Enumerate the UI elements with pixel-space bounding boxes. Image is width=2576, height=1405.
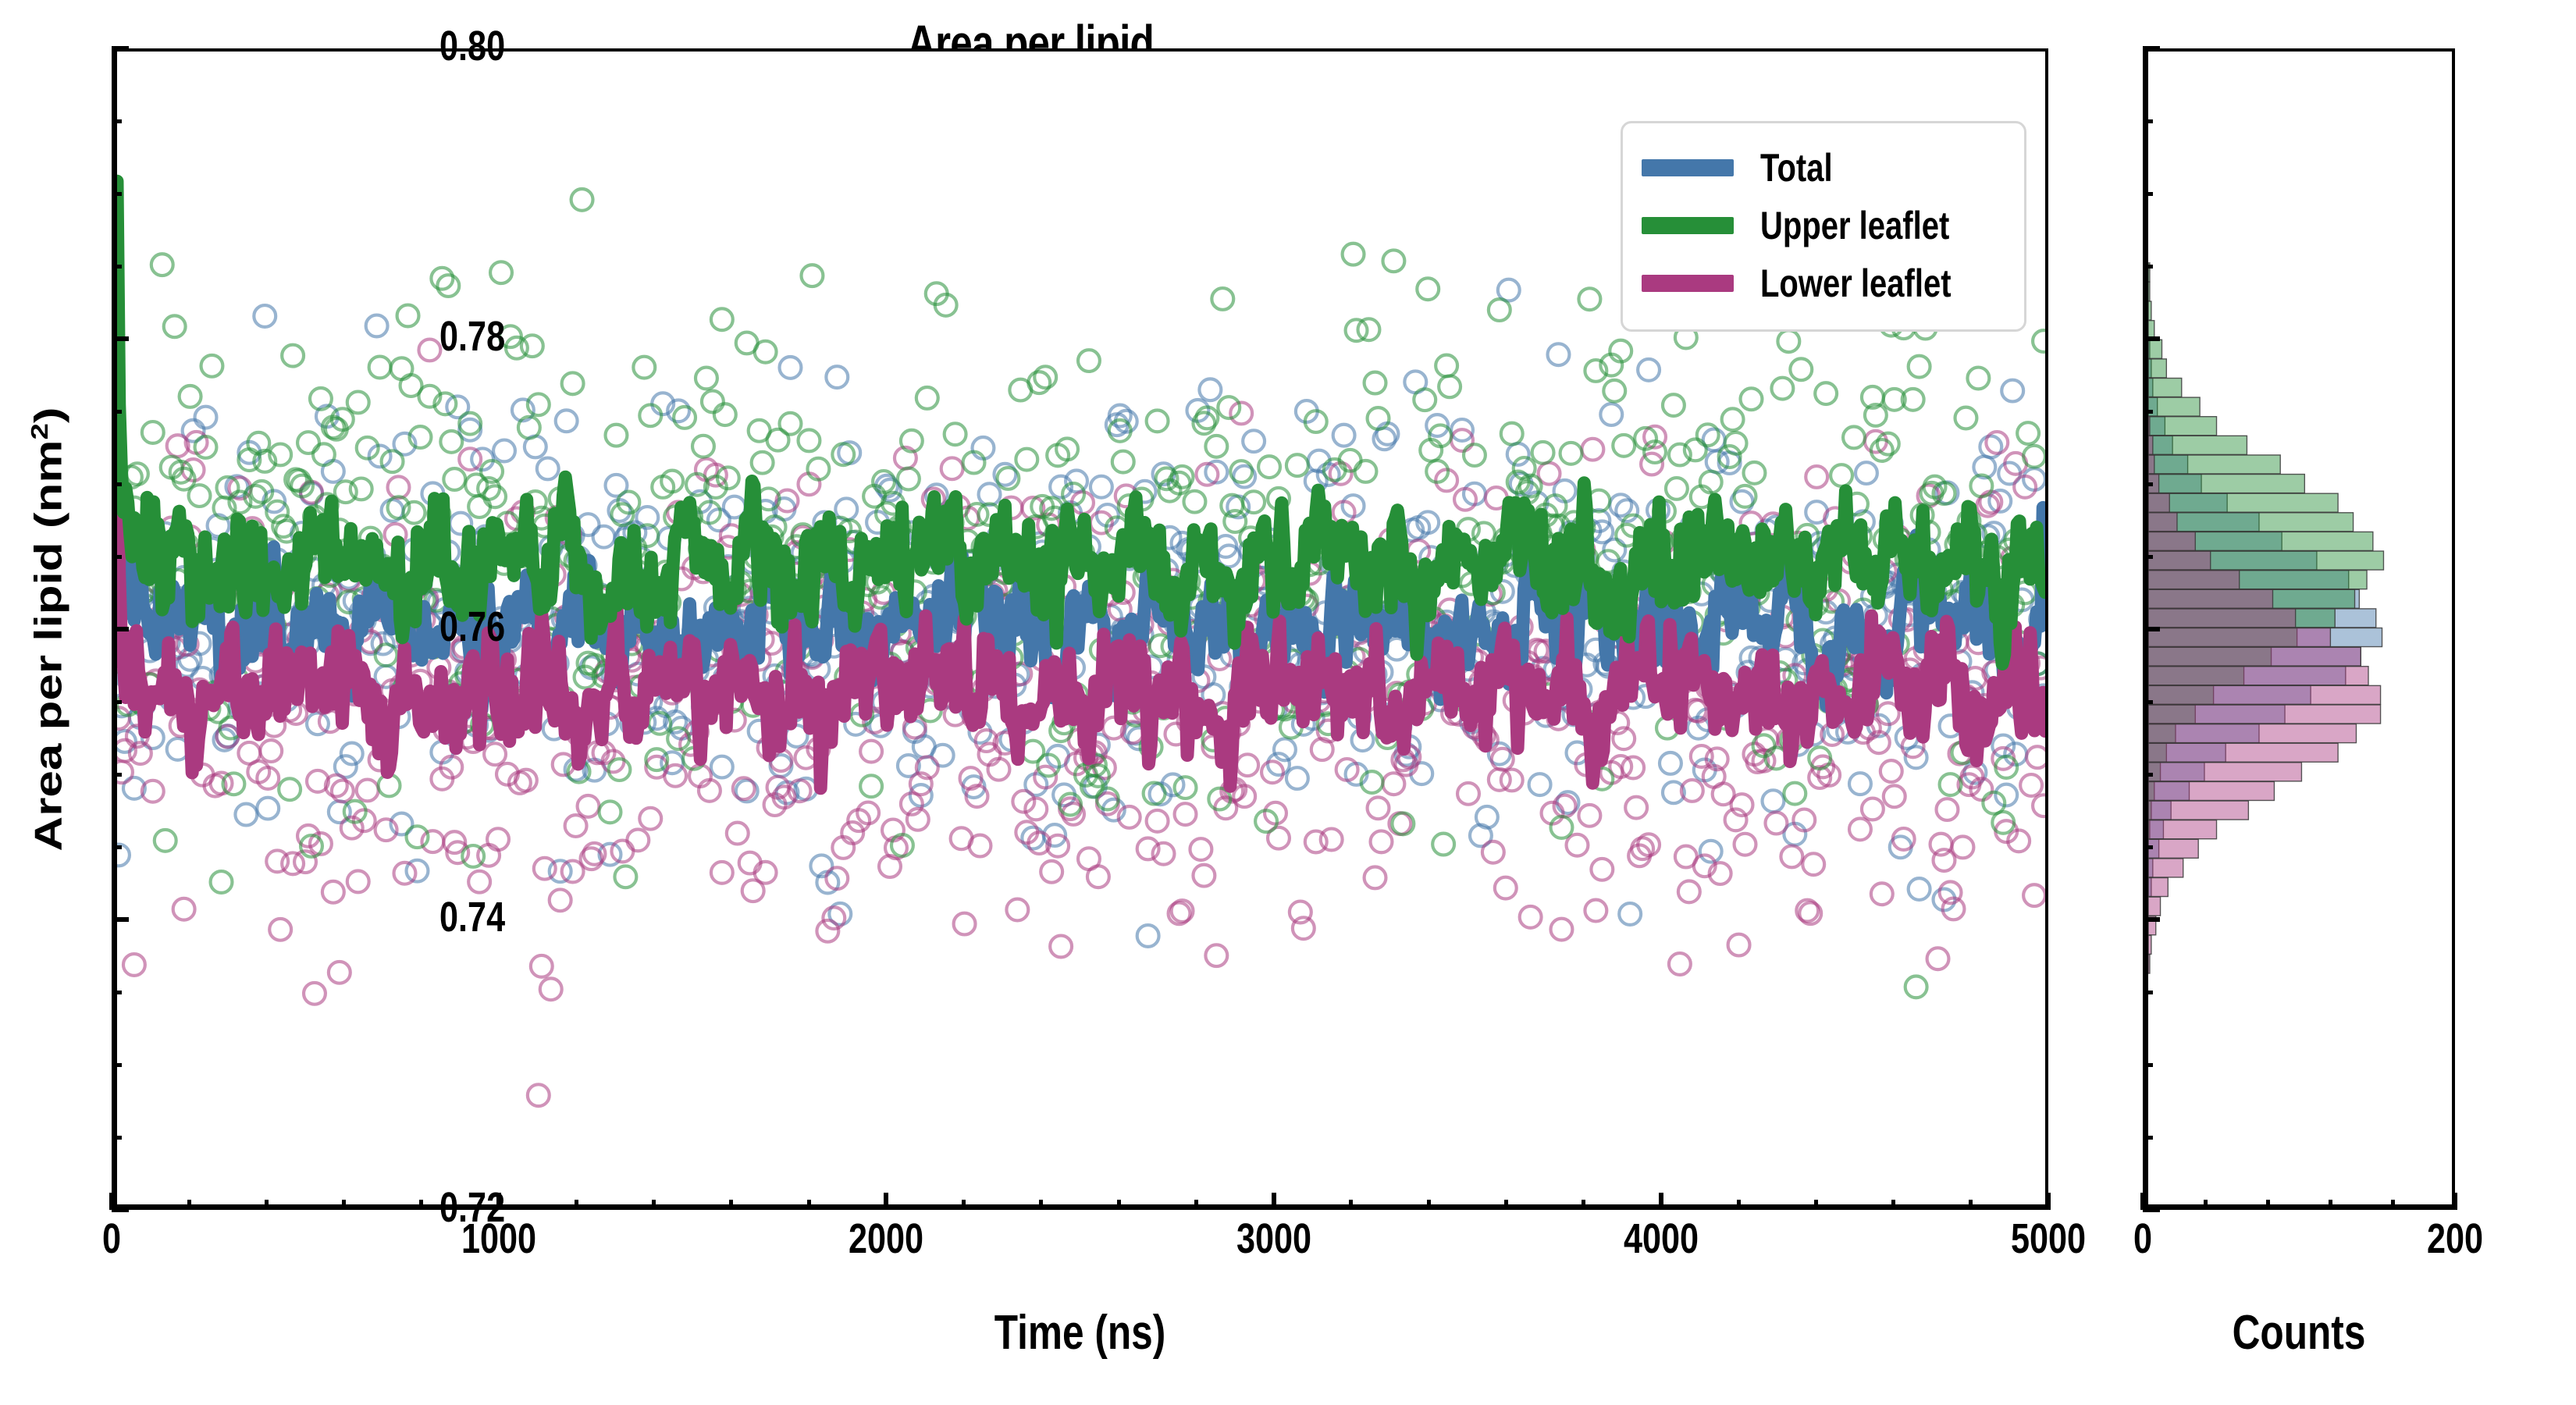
y-tick-minor xyxy=(112,192,122,196)
x-tick-label: 0 xyxy=(12,1215,212,1263)
legend-swatch-total xyxy=(1642,159,1734,176)
x-tick-minor xyxy=(575,1200,578,1210)
legend: Total Upper leaflet Lower leaflet xyxy=(1621,121,2026,332)
y-tick-minor xyxy=(112,265,122,269)
y-tick-major xyxy=(112,1208,129,1212)
histogram-y-tick-minor xyxy=(2143,192,2153,196)
x-tick-major xyxy=(884,1193,888,1210)
x-tick-label: 4000 xyxy=(1561,1215,1761,1263)
histogram-x-tick-label: 200 xyxy=(2355,1215,2555,1263)
legend-label-total: Total xyxy=(1760,145,1833,190)
x-tick-minor xyxy=(1891,1200,1895,1210)
histogram-x-tick-major xyxy=(2453,1193,2457,1210)
x-tick-label: 3000 xyxy=(1174,1215,1374,1263)
legend-item-lower-leaflet[interactable]: Lower leaflet xyxy=(1642,254,2005,312)
histogram-x-tick-minor xyxy=(2266,1200,2270,1210)
y-tick-minor xyxy=(112,700,122,704)
histogram-y-tick-minor xyxy=(2143,119,2153,123)
y-axis-label: Area per lipid (nm2) xyxy=(27,407,71,851)
histogram-bars-svg xyxy=(2148,52,2452,1204)
x-tick-minor xyxy=(1117,1200,1121,1210)
y-tick-major xyxy=(112,46,129,51)
histogram-x-tick-label: 0 xyxy=(2043,1215,2243,1263)
histogram-y-tick-minor xyxy=(2143,700,2153,704)
y-tick-minor xyxy=(112,119,122,123)
y-tick-minor xyxy=(112,1136,122,1140)
x-axis-label: Time (ns) xyxy=(305,1305,1855,1361)
x-tick-major xyxy=(1659,1193,1663,1210)
figure-canvas: Area per lipid 0.720.740.760.780.8001000… xyxy=(0,0,2576,1405)
y-tick-label: 0.78 xyxy=(439,312,505,361)
x-tick-minor xyxy=(1582,1200,1585,1210)
histogram-y-tick-major xyxy=(2143,627,2160,631)
histogram-y-tick-minor xyxy=(2143,1063,2153,1067)
x-tick-major xyxy=(496,1193,501,1210)
y-tick-minor xyxy=(112,555,122,559)
x-tick-minor xyxy=(265,1200,269,1210)
histogram-y-tick-minor xyxy=(2143,265,2153,269)
y-tick-label: 0.80 xyxy=(439,22,505,70)
legend-swatch-lower-leaflet xyxy=(1642,275,1734,292)
histogram-axes xyxy=(2143,48,2455,1210)
histogram-y-tick-major xyxy=(2143,336,2160,341)
histogram-x-tick-major xyxy=(2140,1193,2145,1210)
y-tick-minor xyxy=(112,482,122,486)
histogram-x-tick-minor xyxy=(2329,1200,2332,1210)
histogram-y-tick-major xyxy=(2143,917,2160,922)
histogram-y-tick-major xyxy=(2143,1208,2160,1212)
histogram-y-tick-major xyxy=(2143,46,2160,51)
histogram-y-tick-minor xyxy=(2143,410,2153,414)
histogram-x-tick-minor xyxy=(2204,1200,2208,1210)
x-tick-minor xyxy=(1349,1200,1353,1210)
x-tick-label: 1000 xyxy=(399,1215,599,1263)
x-tick-minor xyxy=(729,1200,733,1210)
legend-swatch-upper-leaflet xyxy=(1642,217,1734,234)
y-axis-label-text: Area per lipid (nm xyxy=(27,439,69,851)
x-tick-minor xyxy=(1969,1200,1973,1210)
histogram-y-tick-minor xyxy=(2143,482,2153,486)
x-tick-minor xyxy=(652,1200,656,1210)
histogram-y-tick-minor xyxy=(2143,555,2153,559)
x-tick-minor xyxy=(1737,1200,1741,1210)
x-tick-minor xyxy=(187,1200,191,1210)
histogram-x-axis-label: Counts xyxy=(2174,1305,2424,1361)
legend-item-total[interactable]: Total xyxy=(1642,139,2005,197)
y-tick-minor xyxy=(112,991,122,994)
y-tick-minor xyxy=(112,1063,122,1067)
legend-item-upper-leaflet[interactable]: Upper leaflet xyxy=(1642,197,2005,254)
x-tick-major xyxy=(2046,1193,2051,1210)
y-tick-major xyxy=(112,627,129,631)
x-tick-minor xyxy=(1814,1200,1818,1210)
x-tick-minor xyxy=(419,1200,423,1210)
histogram-x-tick-minor xyxy=(2391,1200,2395,1210)
legend-label-upper-leaflet: Upper leaflet xyxy=(1760,203,1949,248)
x-tick-minor xyxy=(1194,1200,1198,1210)
y-tick-minor xyxy=(112,773,122,777)
y-tick-minor xyxy=(112,845,122,849)
x-tick-major xyxy=(1272,1193,1276,1210)
x-tick-label: 2000 xyxy=(786,1215,986,1263)
y-tick-major xyxy=(112,917,129,922)
y-tick-minor xyxy=(112,410,122,414)
histogram-plot-area xyxy=(2148,52,2452,1204)
y-tick-label: 0.74 xyxy=(439,893,505,941)
x-tick-minor xyxy=(1039,1200,1043,1210)
x-tick-minor xyxy=(342,1200,346,1210)
histogram-y-tick-minor xyxy=(2143,773,2153,777)
histogram-y-tick-minor xyxy=(2143,1136,2153,1140)
x-tick-minor xyxy=(1504,1200,1508,1210)
y-tick-label: 0.76 xyxy=(439,603,505,651)
x-tick-minor xyxy=(1427,1200,1431,1210)
histogram-y-tick-minor xyxy=(2143,991,2153,994)
x-tick-major xyxy=(109,1193,114,1210)
y-axis-label-superscript: 2 xyxy=(27,423,53,439)
x-tick-minor xyxy=(962,1200,966,1210)
x-tick-minor xyxy=(807,1200,811,1210)
y-axis-label-tail: ) xyxy=(27,407,69,423)
y-tick-major xyxy=(112,336,129,341)
histogram-y-tick-minor xyxy=(2143,845,2153,849)
legend-label-lower-leaflet: Lower leaflet xyxy=(1760,261,1952,306)
